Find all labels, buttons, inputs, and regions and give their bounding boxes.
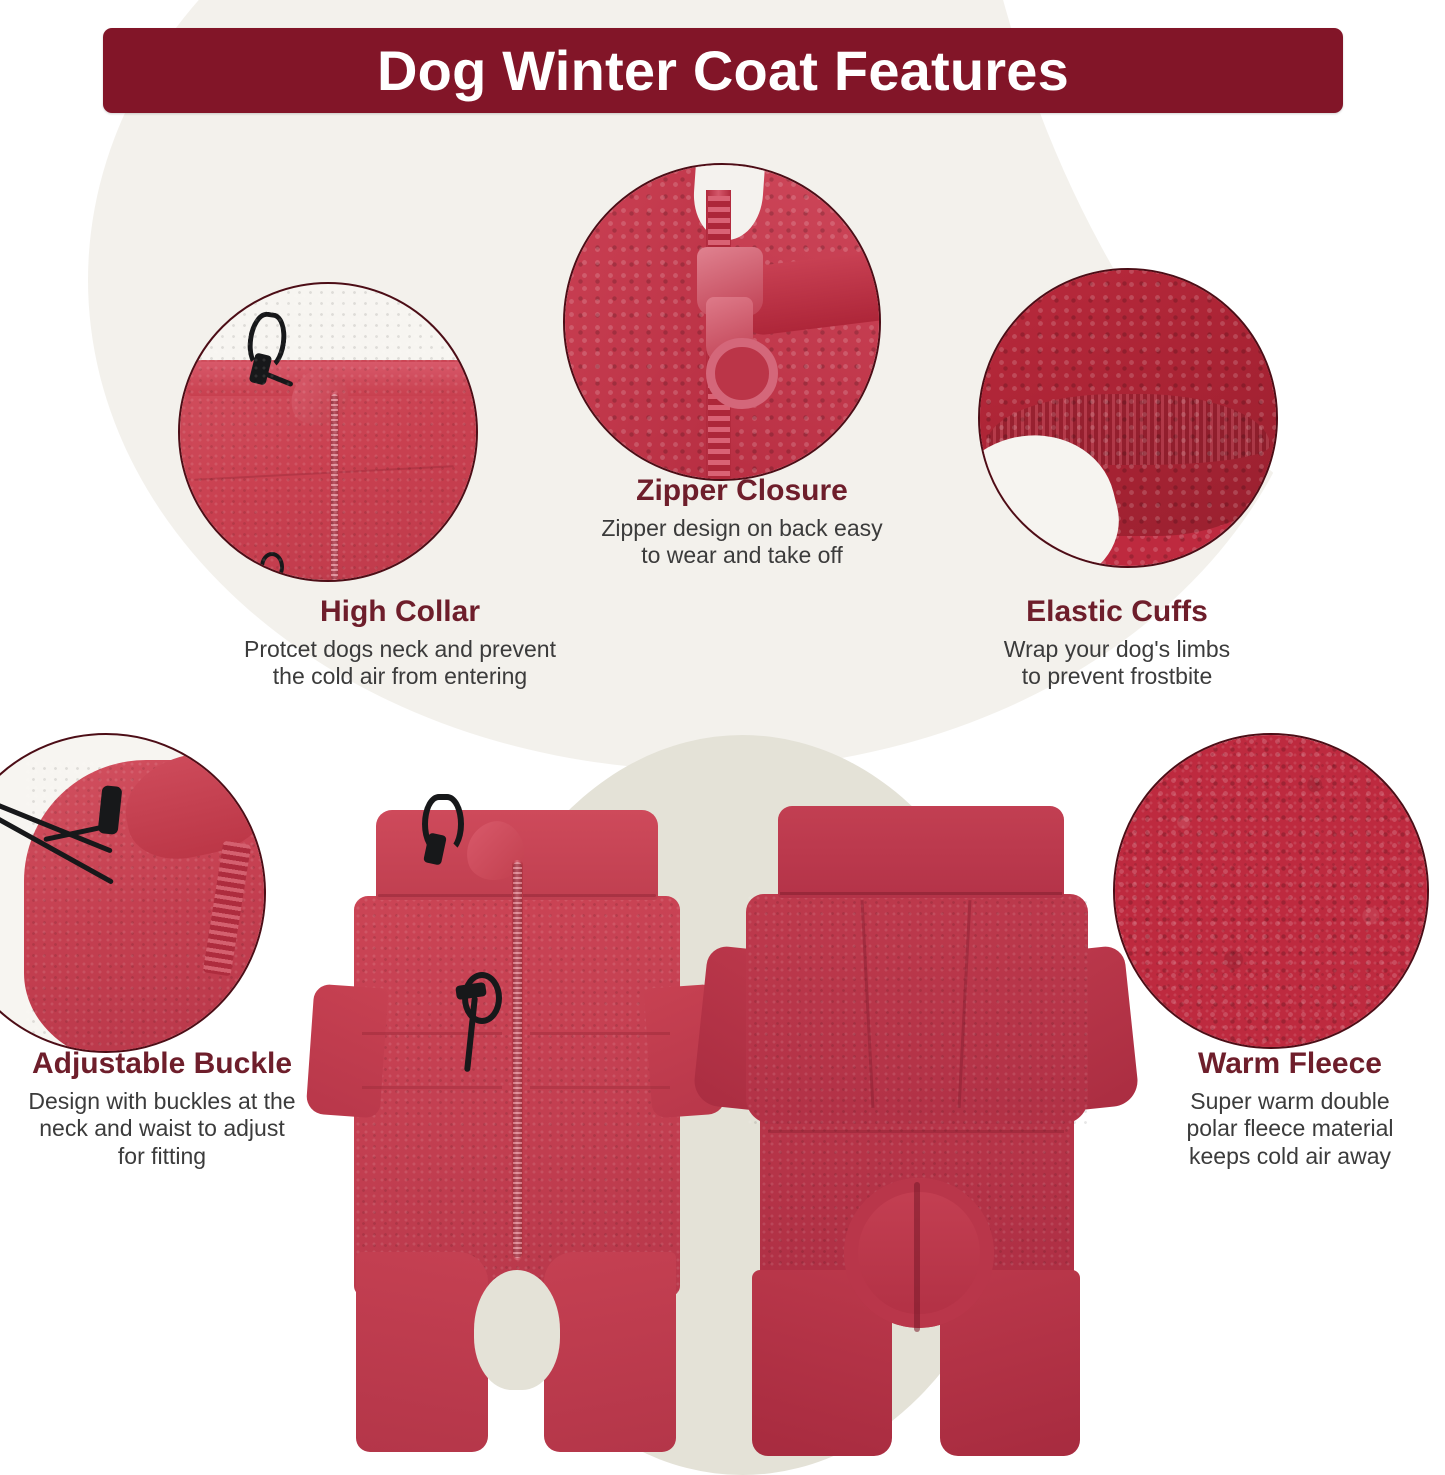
elastic-cuff-photo — [980, 270, 1276, 566]
infographic-canvas: Dog Winter Coat Features — [0, 0, 1445, 1468]
front-seam-right-lower — [530, 1086, 670, 1089]
feature-description-zipper-closure: Zipper design on back easy to wear and t… — [512, 515, 972, 570]
front-leg-gap — [474, 1270, 560, 1390]
front-zipper-teeth — [513, 862, 522, 1258]
front-seam-left-upper — [362, 1032, 502, 1035]
buckle-photo — [0, 735, 264, 1051]
high-collar-photo — [180, 284, 476, 580]
feature-image-warm-fleece — [1113, 733, 1429, 1049]
front-left-leg — [356, 1252, 488, 1452]
zipper-photo — [565, 165, 879, 479]
feature-image-high-collar — [178, 282, 478, 582]
feature-heading-zipper-closure: Zipper Closure — [512, 475, 972, 507]
fleece-texture-overlay — [180, 284, 476, 580]
zipper-pull-ring — [706, 338, 777, 409]
back-collar-band — [778, 806, 1064, 898]
feature-image-adjustable-buckle — [0, 733, 266, 1053]
feature-heading-warm-fleece: Warm Fleece — [1136, 1048, 1444, 1080]
front-seam-left-lower — [362, 1086, 502, 1089]
product-photo-front-view — [316, 800, 716, 1460]
back-shoulder-texture — [746, 894, 1088, 1124]
front-seam-right-upper — [530, 1032, 670, 1035]
product-photo-back-view — [716, 800, 1116, 1460]
back-shoulder-panel — [746, 894, 1088, 1124]
feature-description-adjustable-buckle: Design with buckles at the neck and wais… — [2, 1088, 322, 1171]
feature-caption-warm-fleece: Warm Fleece Super warm double polar flee… — [1136, 1048, 1444, 1170]
feature-caption-high-collar: High Collar Protcet dogs neck and preven… — [120, 596, 680, 691]
feature-heading-high-collar: High Collar — [120, 596, 680, 628]
feature-heading-adjustable-buckle: Adjustable Buckle — [2, 1048, 322, 1080]
front-right-leg — [544, 1252, 676, 1452]
back-opening-seam — [914, 1182, 920, 1332]
feature-image-elastic-cuffs — [978, 268, 1278, 568]
back-collar-seam — [780, 892, 1062, 895]
fleece-texture-photo — [1115, 735, 1427, 1047]
feature-description-elastic-cuffs: Wrap your dog's limbs to prevent frostbi… — [942, 636, 1292, 691]
feature-image-zipper-closure — [563, 163, 881, 481]
feature-heading-elastic-cuffs: Elastic Cuffs — [942, 596, 1292, 628]
feature-caption-zipper-closure: Zipper Closure Zipper design on back eas… — [512, 475, 972, 570]
page-title: Dog Winter Coat Features — [377, 43, 1069, 99]
title-banner: Dog Winter Coat Features — [103, 28, 1343, 113]
fleece-fine-texture — [1115, 735, 1427, 1047]
feature-caption-elastic-cuffs: Elastic Cuffs Wrap your dog's limbs to p… — [942, 596, 1292, 691]
feature-caption-adjustable-buckle: Adjustable Buckle Design with buckles at… — [2, 1048, 322, 1170]
feature-description-high-collar: Protcet dogs neck and prevent the cold a… — [120, 636, 680, 691]
feature-description-warm-fleece: Super warm double polar fleece material … — [1136, 1088, 1444, 1171]
back-waist-seam — [768, 1130, 1064, 1133]
